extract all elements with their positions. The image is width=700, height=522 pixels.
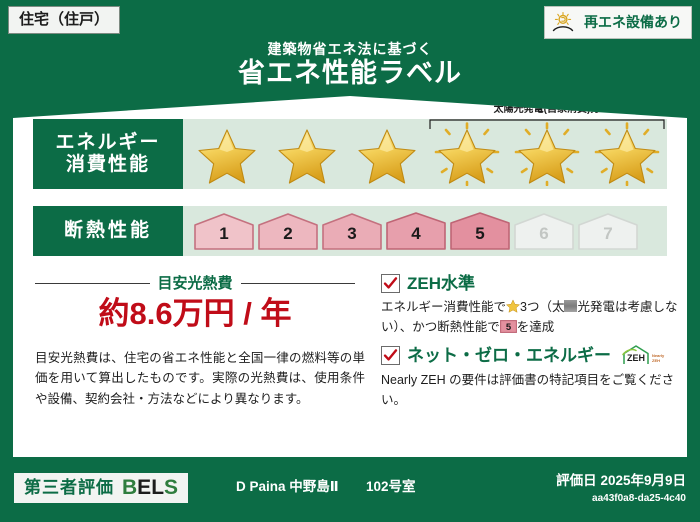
star-3 — [349, 122, 425, 186]
label-footer: 第三者評価 BELS D Paina 中野島Ⅱ 102号室 評価日 2025年9… — [0, 464, 700, 522]
zeh-body-part4: を達成 — [517, 320, 555, 334]
insulation-level-2: 2 — [257, 212, 319, 250]
insulation-level-7-number: 7 — [603, 225, 612, 250]
evaluation-date-label: 評価日 — [556, 473, 597, 488]
energy-label-line1: エネルギー — [55, 132, 160, 154]
evaluation-date-value: 2025年9月9日 — [600, 473, 686, 488]
insulation-level-6-number: 6 — [539, 225, 548, 250]
criterion-zeh-body: エネルギー消費性能で3つ（太光発電は考慮しない）、かつ断熱性能で5を達成 — [381, 297, 681, 338]
cost-value: 約8.6万円 / 年 — [35, 296, 355, 332]
criterion-zeh-header: ZEH水準 — [381, 274, 681, 293]
insulation-level-3: 3 — [321, 212, 383, 250]
bels-letter-e: E — [137, 476, 151, 499]
solar-annotation-label: 太陽光発電(自家消費)分 — [425, 104, 669, 115]
energy-label-line2: 消費性能 — [66, 154, 150, 176]
insulation-level-5-number: 5 — [475, 225, 484, 250]
cost-rule-right — [241, 283, 356, 284]
svg-text:ZEH: ZEH — [652, 358, 660, 363]
energy-performance-row: エネルギー 消費性能 — [33, 119, 667, 189]
star-icon — [517, 128, 577, 184]
cost-rule-left — [35, 283, 150, 284]
insulation-level-7: 7 — [577, 212, 639, 250]
criterion-zeh-title: ZEH水準 — [407, 275, 475, 292]
sun-icon-svg — [552, 11, 578, 33]
zeh-body-part1: エネルギー消費性能で — [381, 300, 506, 314]
insulation-level-2-number: 2 — [283, 225, 292, 250]
energy-performance-label: エネルギー 消費性能 — [33, 119, 183, 189]
insulation-levels-strip: 1 2 3 — [183, 206, 667, 256]
svg-text:ZEH: ZEH — [627, 353, 645, 363]
room-number: 102号室 — [366, 480, 416, 494]
star-icon — [277, 128, 337, 184]
sun-icon — [552, 11, 578, 33]
evaluation-id: aa43f0a8-da25-4c40 — [592, 493, 686, 504]
insulation-performance-row: 断熱性能 1 2 — [33, 206, 667, 256]
star-icon — [506, 299, 520, 313]
star-6-solar — [589, 122, 665, 186]
energy-stars-strip — [183, 119, 667, 189]
insulation-performance-label: 断熱性能 — [33, 206, 183, 256]
energy-performance-label: 住宅（住戸） 再エネ設備あり 建築物省エネ法に基づく — [0, 0, 700, 522]
star-1 — [189, 122, 265, 186]
star-icon — [357, 128, 417, 184]
label-title: 建築物省エネ法に基づく 省エネ性能ラベル — [0, 42, 700, 89]
cost-note: 目安光熱費は、住宅の省エネ性能と全国一律の燃料等の単価を用いて算出したものです。… — [35, 348, 365, 409]
star-4-solar — [429, 122, 505, 186]
star-5-solar — [509, 122, 585, 186]
criterion-net-zero-energy: ネット・ゼロ・エネルギー ZEH Nearly ZEH Nearly ZEH の… — [381, 344, 681, 411]
zeh-logo-svg: ZEH Nearly ZEH — [621, 344, 665, 366]
star-icon — [437, 128, 497, 184]
property-name: D Paina 中野島Ⅱ — [236, 480, 339, 494]
checkbox-net-zero-energy[interactable] — [381, 346, 400, 365]
check-icon — [383, 348, 398, 363]
label-body-panel: エネルギー 消費性能 — [13, 96, 687, 457]
title-main: 省エネ性能ラベル — [0, 59, 700, 89]
criterion-nze-title: ネット・ゼロ・エネルギー — [407, 347, 611, 364]
bels-certification-badge: 第三者評価 BELS — [14, 473, 188, 503]
criterion-nze-body: Nearly ZEH の要件は評価書の特記項目をご覧ください。 — [381, 370, 681, 411]
evaluation-date: 評価日 2025年9月9日 — [556, 474, 686, 489]
insulation-level-4-number: 4 — [411, 225, 420, 250]
star-icon — [597, 128, 657, 184]
insulation-level-1: 1 — [193, 212, 255, 250]
insulation-level-6: 6 — [513, 212, 575, 250]
redacted-character — [564, 300, 577, 312]
bels-letter-b: B — [122, 476, 137, 499]
bels-letter-s: S — [164, 476, 178, 499]
checkbox-zeh[interactable] — [381, 274, 400, 293]
title-subtitle: 建築物省エネ法に基づく — [0, 42, 700, 57]
renewable-badge-label: 再エネ設備あり — [584, 15, 682, 29]
insulation-level-1-number: 1 — [219, 225, 228, 250]
insulation-level-3-number: 3 — [347, 225, 356, 250]
star-icon — [197, 128, 257, 184]
zeh-logo-icon: ZEH Nearly ZEH — [618, 344, 665, 366]
insulation-label-text: 断熱性能 — [64, 220, 152, 242]
category-tag: 住宅（住戸） — [8, 6, 120, 34]
insulation-level-4: 4 — [385, 212, 447, 250]
third-party-label: 第三者評価 — [24, 479, 114, 496]
check-icon — [383, 276, 398, 291]
star-2 — [269, 122, 345, 186]
criterion-nze-header: ネット・ゼロ・エネルギー ZEH Nearly ZEH — [381, 344, 681, 366]
criterion-zeh: ZEH水準 エネルギー消費性能で3つ（太光発電は考慮しない）、かつ断熱性能で5を… — [381, 274, 681, 338]
zeh-body-part2: 3つ（太 — [520, 300, 564, 314]
cost-heading: 目安光熱費 — [35, 276, 355, 291]
renewable-energy-badge: 再エネ設備あり — [544, 6, 692, 39]
bels-letter-l: L — [151, 476, 164, 499]
bels-logo: BELS — [122, 477, 178, 498]
insulation-level-5: 5 — [449, 212, 511, 250]
cost-heading-text: 目安光熱費 — [158, 276, 233, 291]
insulation-badge-5-icon: 5 — [500, 320, 517, 333]
svg-text:5: 5 — [506, 322, 512, 333]
